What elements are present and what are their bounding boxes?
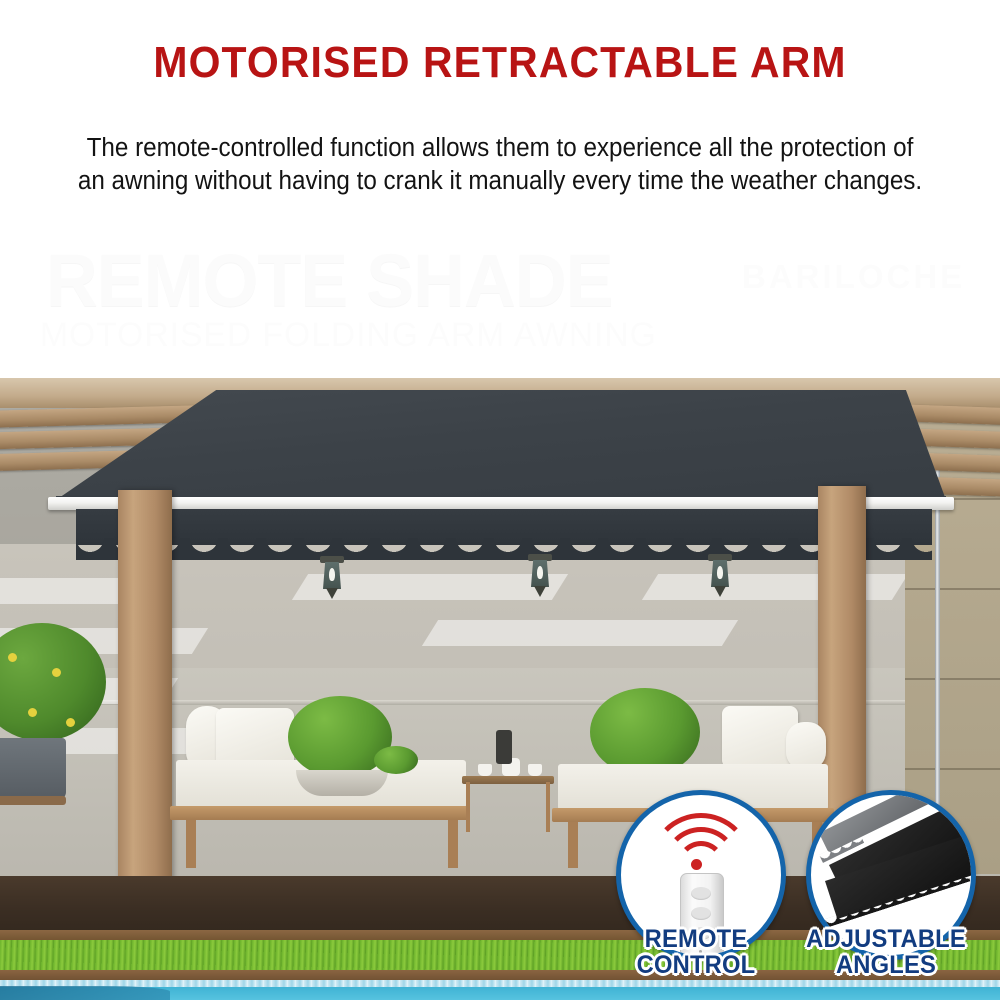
- lantern-decor: [496, 730, 512, 764]
- topiary-shrub: [590, 688, 700, 776]
- watermark-sub-text: MOTORISED FOLDING ARM AWNING: [40, 316, 657, 355]
- badge-label-line1: ADJUSTABLE: [783, 927, 988, 952]
- awning-scalloped-edge: [76, 538, 932, 560]
- planter-bowl: [296, 770, 388, 796]
- lantern-cap: [708, 554, 732, 561]
- lantern-bulb: [329, 568, 335, 581]
- lemon-fruit: [28, 708, 37, 717]
- cup: [478, 764, 492, 776]
- plant-pot-base: [0, 796, 66, 805]
- table-leg: [466, 782, 470, 832]
- product-feature-image: MOTORISED RETRACTABLE ARM The remote-con…: [0, 0, 1000, 1000]
- badge-label-line1: REMOTE: [603, 927, 789, 952]
- remote-button-stop: [691, 907, 711, 920]
- lounger-leg: [568, 822, 578, 868]
- lounger-frame: [170, 806, 470, 820]
- apple-cluster: [374, 746, 418, 774]
- stone-joint: [905, 588, 1000, 590]
- lantern-finial: [326, 588, 338, 599]
- header-text-block: MOTORISED RETRACTABLE ARM The remote-con…: [0, 0, 1000, 378]
- watermark-main-text: REMOTE SHADE: [46, 238, 613, 323]
- lounger-leg: [186, 820, 196, 868]
- remote-button-up: [691, 887, 711, 900]
- lantern-bulb: [537, 566, 543, 579]
- lemon-fruit: [8, 653, 17, 662]
- stone-joint: [905, 678, 1000, 680]
- pool-tile-line: [0, 980, 1000, 987]
- brand-watermark: REMOTE SHADE MOTORISED FOLDING ARM AWNIN…: [0, 238, 1000, 368]
- table-leg: [546, 782, 550, 832]
- pergola-post: [118, 490, 172, 890]
- watermark-brand-text: BARILOCHE: [742, 258, 965, 296]
- badge-label-line2: CONTROL: [603, 953, 789, 978]
- wall-lantern: [528, 554, 552, 600]
- lemon-fruit: [66, 718, 75, 727]
- lemon-fruit: [52, 668, 61, 677]
- stone-joint: [905, 768, 1000, 770]
- lounger-leg: [448, 820, 458, 868]
- pool-water-shadow: [0, 986, 170, 1000]
- pergola-shadow: [642, 574, 908, 600]
- lantern-finial: [534, 586, 546, 597]
- cup: [528, 764, 542, 776]
- lantern-bulb: [717, 566, 723, 579]
- lantern-cap: [528, 554, 552, 561]
- lantern-cap: [320, 556, 344, 563]
- page-title: MOTORISED RETRACTABLE ARM: [35, 38, 965, 88]
- plant-pot: [0, 738, 66, 800]
- signal-source-dot: [691, 859, 702, 870]
- lantern-finial: [714, 586, 726, 597]
- pergola-shadow: [422, 620, 738, 646]
- coffee-table: [462, 776, 554, 784]
- lounger-pillow: [786, 722, 826, 770]
- wall-lantern: [320, 556, 344, 602]
- wall-lantern: [708, 554, 732, 600]
- badge-label-line2: ANGLES: [783, 953, 988, 978]
- header-description: The remote-controlled function allows th…: [73, 132, 928, 198]
